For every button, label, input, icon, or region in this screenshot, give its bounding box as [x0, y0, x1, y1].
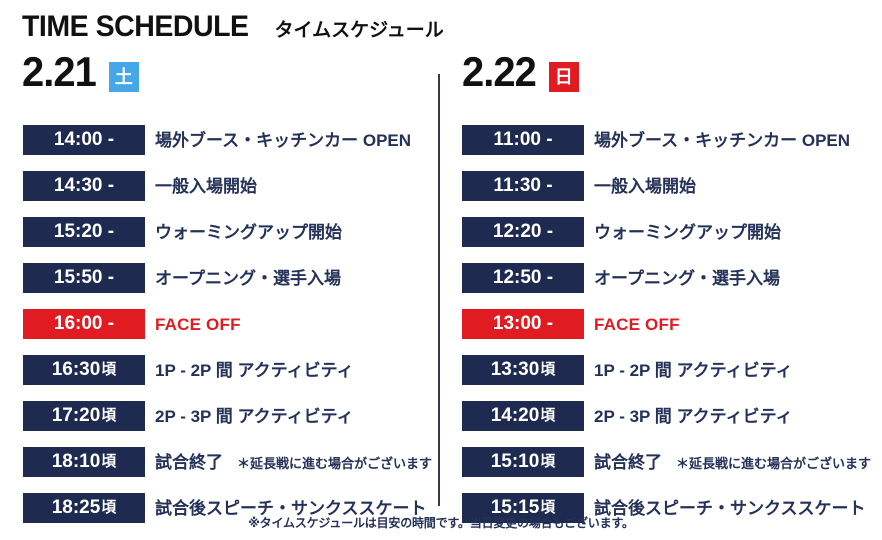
schedule-label: 場外ブース・キッチンカー OPEN — [155, 132, 411, 149]
schedule-row: 15:10頃試合終了＊延長戦に進む場合がございます — [462, 439, 882, 485]
time-suffix: - — [103, 130, 115, 149]
time-suffix: - — [103, 268, 115, 287]
time-badge: 11:30 - — [462, 171, 584, 201]
schedule-label-text: オープニング・選手入場 — [155, 270, 341, 287]
schedule-row: 11:30 -一般入場開始 — [462, 163, 882, 209]
time-suffix: 頃 — [101, 454, 116, 469]
schedule-label-text: ウォーミングアップ開始 — [594, 224, 781, 241]
time-badge: 12:20 - — [462, 217, 584, 247]
time-value: 11:00 — [493, 130, 541, 149]
time-badge: 14:30 - — [23, 171, 145, 201]
schedule-row: 15:20 -ウォーミングアップ開始 — [23, 209, 443, 255]
schedule-row: 14:00 -場外ブース・キッチンカー OPEN — [23, 117, 443, 163]
time-value: 12:20 — [493, 222, 542, 241]
schedule-label-text: 1P - 2P 間 アクティビティ — [594, 362, 793, 379]
time-value: 18:10 — [52, 452, 101, 471]
schedule-label-text: 一般入場開始 — [594, 178, 696, 195]
time-suffix: - — [541, 176, 553, 195]
schedule-label-text: 試合終了 — [155, 454, 223, 471]
time-badge: 17:20頃 — [23, 401, 145, 431]
schedule-row: 11:00 -場外ブース・キッチンカー OPEN — [462, 117, 882, 163]
time-value: 15:20 — [54, 222, 103, 241]
schedule-label: 試合終了＊延長戦に進む場合がございます — [594, 454, 871, 471]
time-suffix: 頃 — [540, 500, 555, 515]
date-number-day2: 2.22 — [462, 51, 536, 93]
schedule-label-note: ＊延長戦に進む場合がございます — [237, 457, 432, 470]
schedule-row: 15:50 -オープニング・選手入場 — [23, 255, 443, 301]
schedule-label: ウォーミングアップ開始 — [594, 224, 781, 241]
schedule-row: 13:00 -FACE OFF — [462, 301, 882, 347]
schedule-label: オープニング・選手入場 — [155, 270, 341, 287]
time-suffix: 頃 — [101, 408, 116, 423]
schedule-label: FACE OFF — [155, 316, 241, 333]
schedule-row: 18:10頃試合終了＊延長戦に進む場合がございます — [23, 439, 443, 485]
schedule-row: 12:50 -オープニング・選手入場 — [462, 255, 882, 301]
time-badge: 14:20頃 — [462, 401, 584, 431]
schedule-footnote: ※タイムスケジュールは目安の時間です。当日変更の場合もございます。 — [0, 514, 882, 531]
schedule-label: 一般入場開始 — [594, 178, 696, 195]
time-value: 16:30 — [52, 360, 101, 379]
time-suffix: - — [103, 176, 115, 195]
schedule-label-text: 2P - 3P 間 アクティビティ — [155, 408, 354, 425]
schedule-row: 14:30 -一般入場開始 — [23, 163, 443, 209]
time-suffix: - — [542, 222, 554, 241]
schedule-label: FACE OFF — [594, 316, 680, 333]
schedule-label-text: ウォーミングアップ開始 — [155, 224, 342, 241]
schedule-row: 13:30頃1P - 2P 間 アクティビティ — [462, 347, 882, 393]
weekday-badge-day2: 日 — [549, 62, 579, 92]
time-badge: 13:00 - — [462, 309, 584, 339]
time-badge: 12:50 - — [462, 263, 584, 293]
schedule-label: 1P - 2P 間 アクティビティ — [594, 362, 793, 379]
time-value: 17:20 — [52, 406, 101, 425]
time-value: 13:30 — [491, 360, 540, 379]
schedule-label: 2P - 3P 間 アクティビティ — [594, 408, 793, 425]
date-number-day1: 2.21 — [22, 51, 96, 93]
weekday-badge-day1: 土 — [109, 62, 139, 92]
schedule-label-text: 1P - 2P 間 アクティビティ — [155, 362, 354, 379]
time-badge: 15:20 - — [23, 217, 145, 247]
time-value: 12:50 — [493, 268, 542, 287]
schedule-label: ウォーミングアップ開始 — [155, 224, 342, 241]
time-badge: 18:10頃 — [23, 447, 145, 477]
schedule-row: 12:20 -ウォーミングアップ開始 — [462, 209, 882, 255]
schedule-label: 場外ブース・キッチンカー OPEN — [594, 132, 850, 149]
time-value: 14:00 — [54, 130, 103, 149]
date-header-day2: 2.22 日 — [462, 51, 579, 93]
schedule-label-text: FACE OFF — [594, 316, 680, 333]
date-header-day1: 2.21 土 — [22, 51, 139, 93]
time-badge: 11:00 - — [462, 125, 584, 155]
time-suffix: 頃 — [540, 408, 555, 423]
time-suffix: 頃 — [540, 362, 555, 377]
time-suffix: - — [103, 222, 115, 241]
time-suffix: 頃 — [101, 362, 116, 377]
page-header: TIME SCHEDULE タイムスケジュール — [22, 10, 444, 44]
schedule-label: 一般入場開始 — [155, 178, 257, 195]
time-badge: 14:00 - — [23, 125, 145, 155]
time-suffix: - — [542, 268, 554, 287]
time-badge: 13:30頃 — [462, 355, 584, 385]
time-badge: 16:30頃 — [23, 355, 145, 385]
time-value: 13:00 — [493, 314, 542, 333]
time-value: 15:10 — [491, 452, 540, 471]
time-suffix: 頃 — [101, 500, 116, 515]
schedule-label-text: 試合終了 — [594, 454, 662, 471]
schedule-label: 1P - 2P 間 アクティビティ — [155, 362, 354, 379]
schedule-row: 17:20頃2P - 3P 間 アクティビティ — [23, 393, 443, 439]
time-suffix: 頃 — [540, 454, 555, 469]
schedule-label-note: ＊延長戦に進む場合がございます — [676, 457, 871, 470]
schedule-label-text: 2P - 3P 間 アクティビティ — [594, 408, 793, 425]
schedule-row: 14:20頃2P - 3P 間 アクティビティ — [462, 393, 882, 439]
schedule-label: オープニング・選手入場 — [594, 270, 780, 287]
schedule-label: 試合終了＊延長戦に進む場合がございます — [155, 454, 432, 471]
time-schedule-page: TIME SCHEDULE タイムスケジュール 2.21 土 2.22 日 14… — [0, 0, 882, 540]
schedule-label-text: FACE OFF — [155, 316, 241, 333]
time-badge: 15:10頃 — [462, 447, 584, 477]
page-title-en: TIME SCHEDULE — [22, 10, 249, 44]
time-value: 15:50 — [54, 268, 103, 287]
time-suffix: - — [541, 130, 553, 149]
time-badge: 16:00 - — [23, 309, 145, 339]
schedule-label-text: 場外ブース・キッチンカー OPEN — [155, 132, 411, 149]
schedule-label-text: 一般入場開始 — [155, 178, 257, 195]
time-value: 14:30 — [54, 176, 103, 195]
schedule-label: 2P - 3P 間 アクティビティ — [155, 408, 354, 425]
time-value: 16:00 — [54, 314, 103, 333]
schedule-label-text: 場外ブース・キッチンカー OPEN — [594, 132, 850, 149]
schedule-label-text: オープニング・選手入場 — [594, 270, 780, 287]
page-title-ja: タイムスケジュール — [275, 15, 444, 42]
time-suffix: - — [103, 314, 115, 333]
time-badge: 15:50 - — [23, 263, 145, 293]
schedule-row: 16:30頃1P - 2P 間 アクティビティ — [23, 347, 443, 393]
time-value: 11:30 — [493, 176, 541, 195]
time-value: 14:20 — [491, 406, 540, 425]
schedule-row: 16:00 -FACE OFF — [23, 301, 443, 347]
schedule-column-day2: 11:00 -場外ブース・キッチンカー OPEN11:30 -一般入場開始12:… — [462, 117, 882, 531]
time-suffix: - — [542, 314, 554, 333]
schedule-column-day1: 14:00 -場外ブース・キッチンカー OPEN14:30 -一般入場開始15:… — [23, 117, 443, 531]
